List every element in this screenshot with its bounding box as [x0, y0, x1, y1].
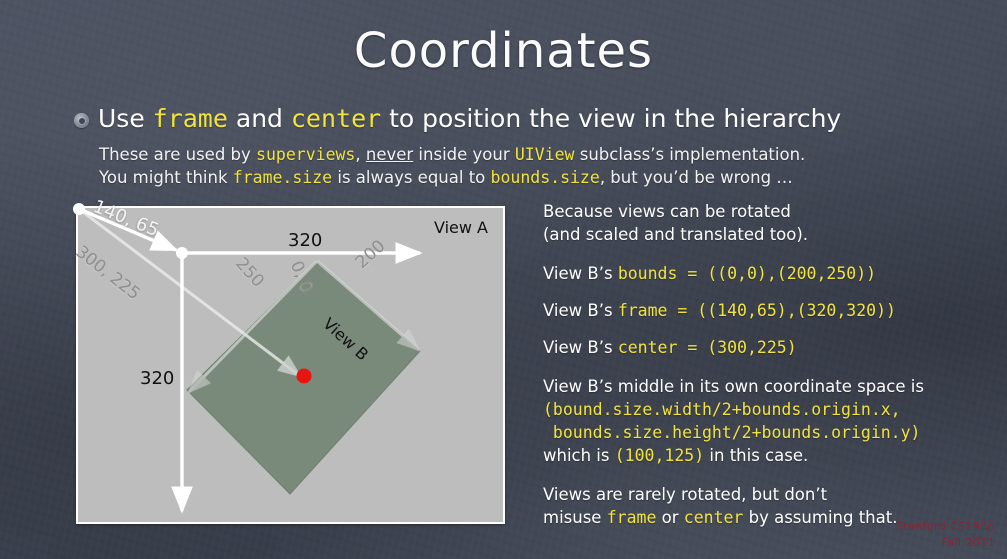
text-run: View B’s [543, 338, 618, 357]
text-line: (bound.size.width/2+bounds.origin.x, [543, 398, 993, 421]
center-arrow [79, 209, 300, 376]
sub-bullet-lines: These are used by superviews, never insi… [99, 143, 979, 189]
middle-explanation: View B’s middle in its own coordinate sp… [543, 375, 993, 467]
text-run: frame [153, 104, 228, 133]
footer-term: Fall 2011 [896, 535, 995, 551]
text-run: superviews [256, 145, 355, 164]
text-run: which is [543, 446, 615, 465]
text-run: frame.size [233, 168, 332, 187]
text-run: (100,125) [615, 446, 704, 465]
text-line: which is (100,125) in this case. [543, 444, 993, 467]
text-run: is always equal to [332, 168, 490, 187]
text-line: View B’s center = (300,225) [543, 336, 993, 359]
sub-line-1: These are used by superviews, never insi… [99, 143, 979, 166]
text-line: View B’s middle in its own coordinate sp… [543, 375, 993, 398]
text-run: bounds = ((0,0),(200,250)) [618, 264, 876, 283]
text-run: View B’s middle in its own coordinate sp… [543, 377, 924, 396]
text-run: (and scaled and translated too). [543, 225, 808, 244]
frame-height-label: 320 [140, 368, 174, 389]
course-footer: Stanford CS193p Fall 2011 [896, 519, 995, 551]
footer-course: Stanford CS193p [896, 519, 995, 535]
text-line: Because views can be rotated [543, 200, 993, 223]
text-line: View B’s frame = ((140,65),(320,320)) [543, 299, 993, 322]
text-run: You might think [99, 168, 233, 187]
text-run: misuse [543, 508, 607, 527]
gear-bullet-icon [74, 113, 89, 128]
text-run: frame = ((140,65),(320,320)) [618, 301, 896, 320]
center-dot [297, 369, 312, 384]
text-run: bounds.size [491, 168, 600, 187]
text-line: View B’s bounds = ((0,0),(200,250)) [543, 262, 993, 285]
rotation-note: Because views can be rotated (and scaled… [543, 200, 993, 246]
coordinates-diagram: View A [76, 206, 505, 524]
text-run: center [291, 104, 381, 133]
text-run: inside your [413, 145, 515, 164]
text-run: , but you’d be wrong … [600, 168, 793, 187]
text-run: (bound.size.width/2+bounds.origin.x, [543, 400, 901, 419]
text-run: center = (300,225) [618, 338, 797, 357]
text-run: Because views can be rotated [543, 202, 791, 221]
bounds-line: View B’s bounds = ((0,0),(200,250)) [543, 262, 993, 285]
text-run: center [684, 508, 744, 527]
main-bullet-text: Use frame and center to position the vie… [98, 104, 841, 134]
text-run: View B’s [543, 264, 618, 283]
text-run: Use [98, 104, 153, 133]
text-run: bounds.size.height/2+bounds.origin.y) [543, 423, 921, 442]
text-line: Views are rarely rotated, but don’t [543, 483, 993, 506]
text-run: View B’s [543, 301, 618, 320]
text-run: and [228, 104, 291, 133]
text-run: , [355, 145, 366, 164]
diagram-vectors [76, 206, 505, 524]
text-run: by assuming that. [743, 508, 897, 527]
text-run: These are used by [99, 145, 256, 164]
text-run: or [656, 508, 683, 527]
text-run: in this case. [704, 446, 808, 465]
text-run: UIView [515, 145, 575, 164]
text-run: Views are rarely rotated, but don’t [543, 485, 827, 504]
text-run: to position the view in the hierarchy [381, 104, 841, 133]
origin-dot [73, 203, 85, 215]
text-run: subclass’s implementation. [574, 145, 805, 164]
frame-line: View B’s frame = ((140,65),(320,320)) [543, 299, 993, 322]
main-bullet-row: Use frame and center to position the vie… [74, 104, 974, 134]
text-run: frame [607, 508, 657, 527]
text-line: (and scaled and translated too). [543, 223, 993, 246]
center-line: View B’s center = (300,225) [543, 336, 993, 359]
text-run: never [366, 145, 413, 164]
frame-width-label: 320 [288, 230, 322, 251]
page-title: Coordinates [0, 22, 1007, 80]
explanation-column: Because views can be rotated (and scaled… [543, 200, 993, 545]
text-line: bounds.size.height/2+bounds.origin.y) [543, 421, 993, 444]
sub-line-2: You might think frame.size is always equ… [99, 166, 979, 189]
